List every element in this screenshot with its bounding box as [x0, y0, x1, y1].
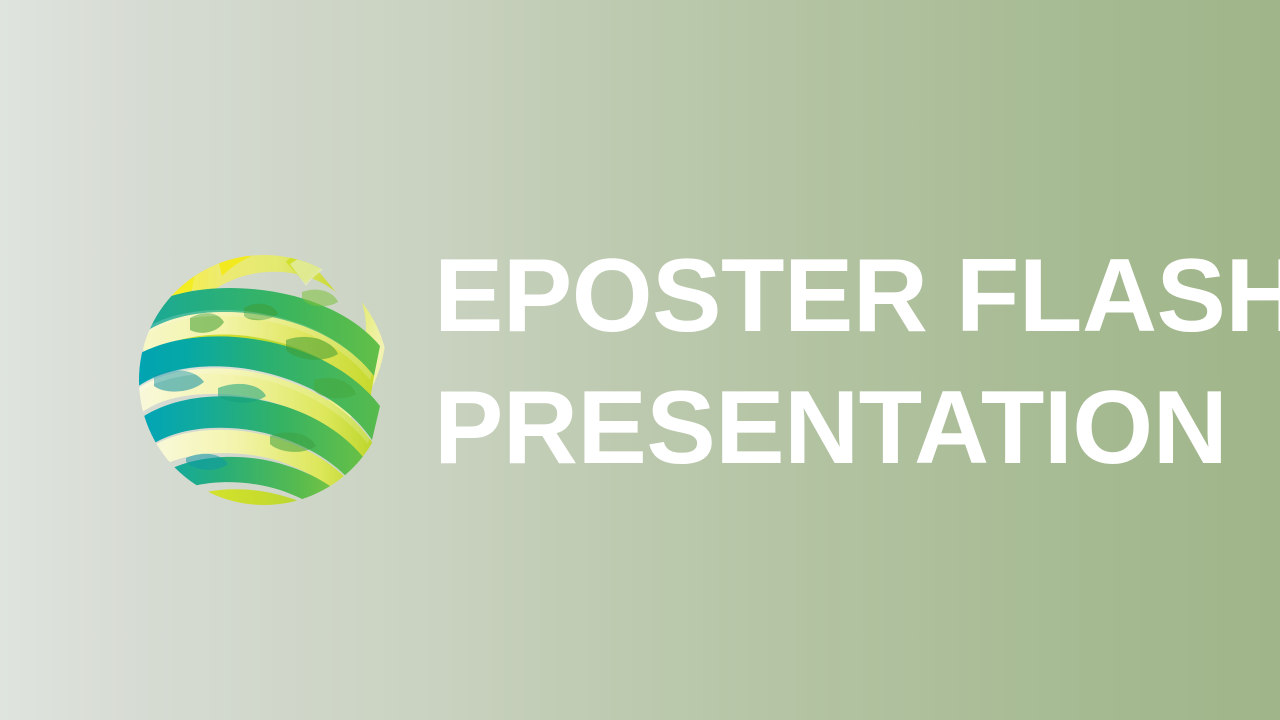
- title-line-2: PRESENTATION: [434, 362, 1280, 494]
- brand-row: EPOSTER FLASH PRESENTATION: [0, 200, 1280, 520]
- globe-ribbon-leaf-logo: [118, 200, 408, 520]
- title-slide: EPOSTER FLASH PRESENTATION: [0, 0, 1280, 720]
- slide-title: EPOSTER FLASH PRESENTATION: [434, 226, 1280, 494]
- title-line-1: EPOSTER FLASH: [434, 230, 1280, 362]
